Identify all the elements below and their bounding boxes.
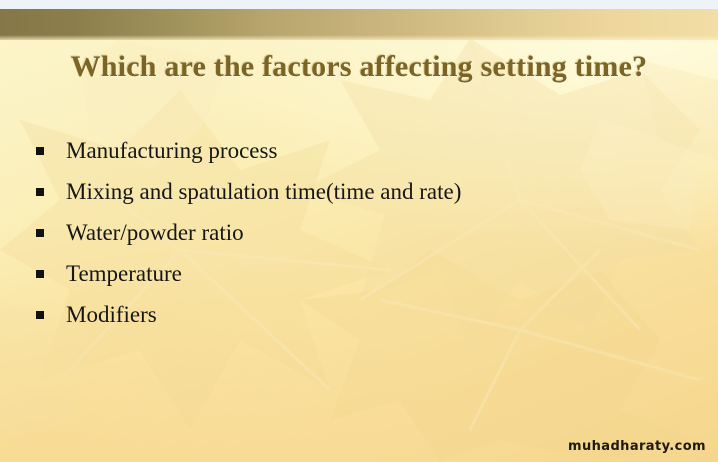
list-item-label: Modifiers <box>66 300 676 329</box>
list-item-label: Water/powder ratio <box>66 218 676 247</box>
list-item: Mixing and spatulation time(time and rat… <box>36 177 676 218</box>
slide-title: Which are the factors affecting setting … <box>0 48 718 86</box>
watermark: muhadharaty.com <box>568 439 706 454</box>
list-item: Modifiers <box>36 300 676 341</box>
square-bullet-icon <box>36 147 44 155</box>
list-item: Manufacturing process <box>36 136 676 177</box>
list-item-label: Temperature <box>66 259 676 288</box>
square-bullet-icon <box>36 188 44 196</box>
square-bullet-icon <box>36 270 44 278</box>
top-white-strip <box>0 0 718 9</box>
square-bullet-icon <box>36 311 44 319</box>
slide-canvas: Which are the factors affecting setting … <box>0 0 718 462</box>
list-item-label: Mixing and spatulation time(time and rat… <box>66 177 676 206</box>
list-item-label: Manufacturing process <box>66 136 676 165</box>
top-gold-gradient-bar <box>0 9 718 40</box>
square-bullet-icon <box>36 229 44 237</box>
bullet-list: Manufacturing process Mixing and spatula… <box>36 136 676 341</box>
list-item: Temperature <box>36 259 676 300</box>
list-item: Water/powder ratio <box>36 218 676 259</box>
